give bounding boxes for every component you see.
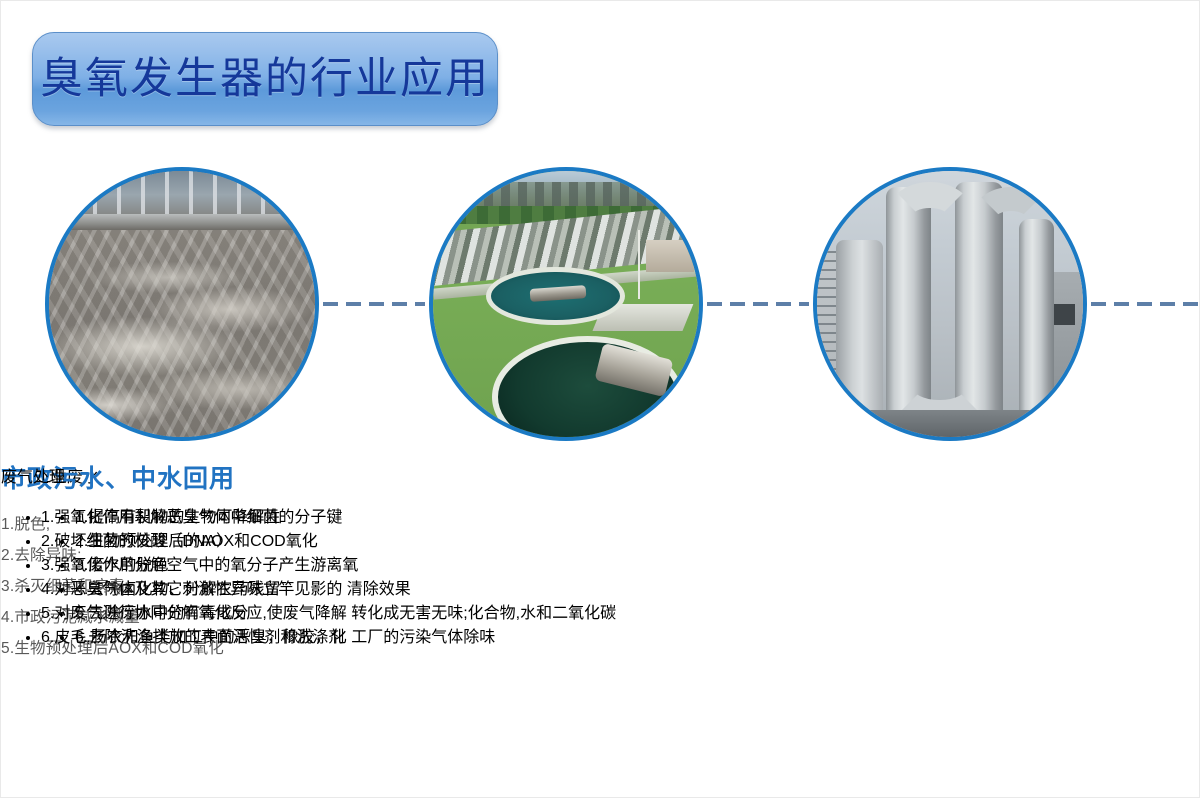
light-pole-detail [638,230,640,299]
duct-bend-2 [971,187,1051,251]
column-exhaust-gas: 废气处理 1.强氧化作用裂解恶臭气体中细菌的分子键 2.破坏细菌的核酸（DNA）… [1,463,616,663]
dashed-connector-1 [323,302,425,306]
plant-building-detail [646,240,694,272]
clarifier-bridge-detail-2 [595,343,674,397]
list-item: 2.破坏细菌的核酸（DNA） [41,527,616,551]
list-item: 4.对恶臭气体及其它刺激性异味立竿见影的 清除效果 [41,575,616,599]
walkway-detail [49,214,315,230]
list-item: 6.皮毛,肠衣和鱼类加工中的恶臭，橡胶，化 工厂的污染气体除味 [41,623,616,647]
circle-image-municipal-sewage [429,167,703,441]
ground-detail [817,410,1083,437]
page-title: 臭氧发生器的行业应用 [40,58,490,101]
duct-bend-1 [886,182,974,251]
dashed-connector-2 [707,302,809,306]
lower-clarifier-detail [492,336,684,441]
upper-clarifier-detail [486,267,624,326]
slide-page: 臭氧发生器的行业应用 [0,0,1200,798]
exhaust-gas-duct-scrubber-photo [817,171,1083,437]
column-heading-exhaust-gas: 废气处理 [1,463,616,487]
list-item: 5.对废气进行协同分解氧化反应,使废气降解 转化成无害无味;化合物,水和二氧化碳 [41,599,616,623]
list-item: 3.强氧化作用分解空气中的氧分子产生游离氧 [41,551,616,575]
municipal-sewage-treatment-plant-photo [433,171,699,437]
clarifier-bridge-detail [529,285,586,302]
duct-pipe-3 [1019,219,1054,432]
industrial-wastewater-aeration-basin-photo [49,171,315,437]
title-banner: 臭氧发生器的行业应用 [32,32,498,126]
dashed-connector-3 [1091,302,1200,306]
feature-list-exhaust-gas: 1.强氧化作用裂解恶臭气体中细菌的分子键 2.破坏细菌的核酸（DNA） 3.强氧… [1,503,616,647]
scrubber-tank-detail [836,240,884,426]
circle-image-industrial-wastewater [45,167,319,441]
list-item: 1.强氧化作用裂解恶臭气体中细菌的分子键 [41,503,616,527]
circle-image-exhaust-gas [813,167,1087,441]
